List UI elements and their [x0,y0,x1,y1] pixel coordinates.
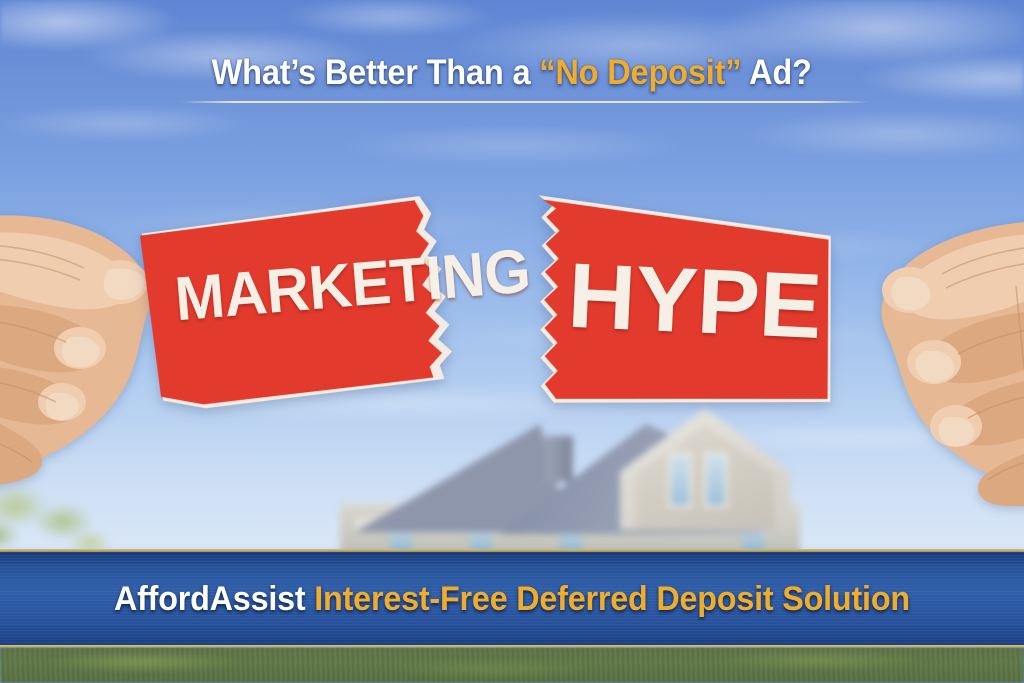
promotional-banner-image: MARKETING HYPE What’s Better Than a “No … [0,0,1024,683]
brand-name: AffordAssist [114,580,306,618]
torn-card-marketing: MARKETING [134,186,495,417]
headline-part1: What’s Better Than a [212,53,540,92]
headline-text: What’s Better Than a “No Deposit” Ad? [212,54,812,93]
banner-tagline: Interest-Free Deferred Deposit Solution [314,580,910,618]
house-chimney [545,436,573,482]
headline-container: What’s Better Than a “No Deposit” Ad? [0,54,1024,93]
torn-card-hype: HYPE [489,185,856,429]
headline-underline [180,101,870,103]
bottom-banner: AffordAssist Interest-Free Deferred Depo… [0,552,1024,647]
card-word-hype: HYPE [566,244,824,360]
headline-highlight: “No Deposit” [540,53,742,92]
headline-part2: Ad? [742,53,812,92]
banner-text: AffordAssist Interest-Free Deferred Depo… [114,580,910,619]
grass-highlight-overlay [0,648,1024,683]
gable-window-left [668,452,692,508]
gable-window-right [704,452,728,508]
